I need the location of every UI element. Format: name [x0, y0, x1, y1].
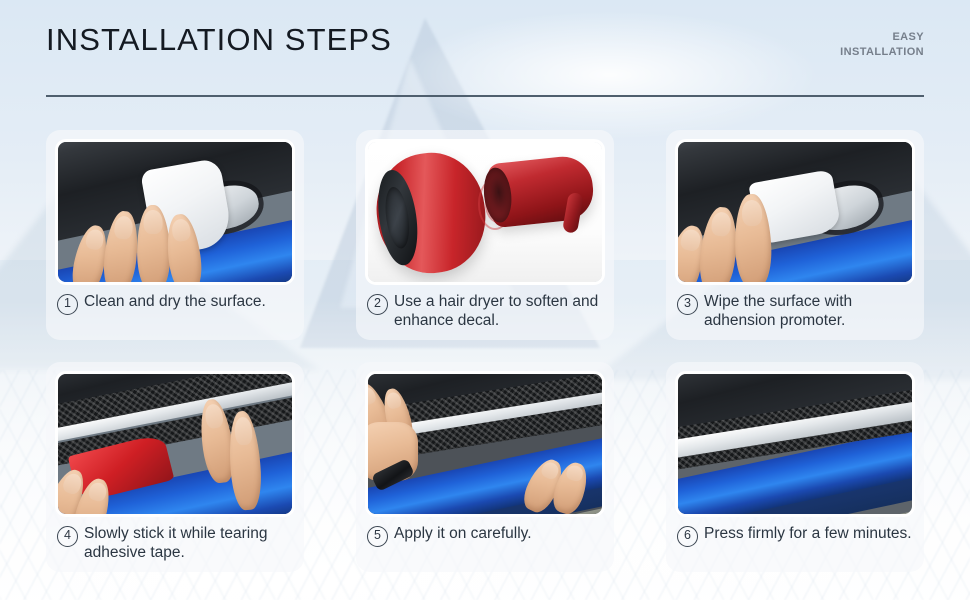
step-card-4: 4 Slowly stick it while tearing adhesive…	[46, 362, 304, 572]
step-card-6: 6 Press firmly for a few minutes.	[666, 362, 924, 572]
wiping-with-promoter-photo	[675, 139, 915, 285]
step-text-5: Apply it on carefully.	[394, 524, 532, 543]
page-header: INSTALLATION STEPS EASY INSTALLATION	[0, 0, 970, 110]
step-text-3: Wipe the surface with adhension promoter…	[704, 292, 915, 330]
step-caption-1: 1 Clean and dry the surface.	[55, 292, 295, 315]
step-caption-3: 3 Wipe the surface with adhension promot…	[675, 292, 915, 330]
step-card-2: 2 Use a hair dryer to soften and enhance…	[356, 130, 614, 340]
applying-strip-photo	[365, 371, 605, 517]
step-number-1: 1	[57, 294, 78, 315]
tagline-line-1: EASY	[840, 30, 924, 45]
step-text-1: Clean and dry the surface.	[84, 292, 266, 311]
finished-sill-photo	[675, 371, 915, 517]
tagline: EASY INSTALLATION	[840, 30, 924, 60]
step-text-4: Slowly stick it while tearing adhesive t…	[84, 524, 295, 562]
step-card-3: 3 Wipe the surface with adhension promot…	[666, 130, 924, 340]
page-title: INSTALLATION STEPS	[46, 22, 392, 58]
step-text-2: Use a hair dryer to soften and enhance d…	[394, 292, 605, 330]
step-caption-5: 5 Apply it on carefully.	[365, 524, 605, 547]
tagline-line-2: INSTALLATION	[840, 45, 924, 60]
steps-grid: 1 Clean and dry the surface.	[46, 130, 924, 572]
step-card-5: 5 Apply it on carefully.	[356, 362, 614, 572]
step-text-6: Press firmly for a few minutes.	[704, 524, 912, 543]
step-caption-2: 2 Use a hair dryer to soften and enhance…	[365, 292, 605, 330]
hair-dryer-and-tape-roll-photo	[365, 139, 605, 285]
step-number-5: 5	[367, 526, 388, 547]
step-caption-4: 4 Slowly stick it while tearing adhesive…	[55, 524, 295, 562]
step-number-6: 6	[677, 526, 698, 547]
installation-steps-page: INSTALLATION STEPS EASY INSTALLATION	[0, 0, 970, 600]
step-number-2: 2	[367, 294, 388, 315]
header-divider	[46, 95, 924, 97]
step-caption-6: 6 Press firmly for a few minutes.	[675, 524, 915, 547]
step-card-1: 1 Clean and dry the surface.	[46, 130, 304, 340]
sticking-strip-photo	[55, 371, 295, 517]
cleaning-door-sill-photo	[55, 139, 295, 285]
step-number-3: 3	[677, 294, 698, 315]
step-number-4: 4	[57, 526, 78, 547]
